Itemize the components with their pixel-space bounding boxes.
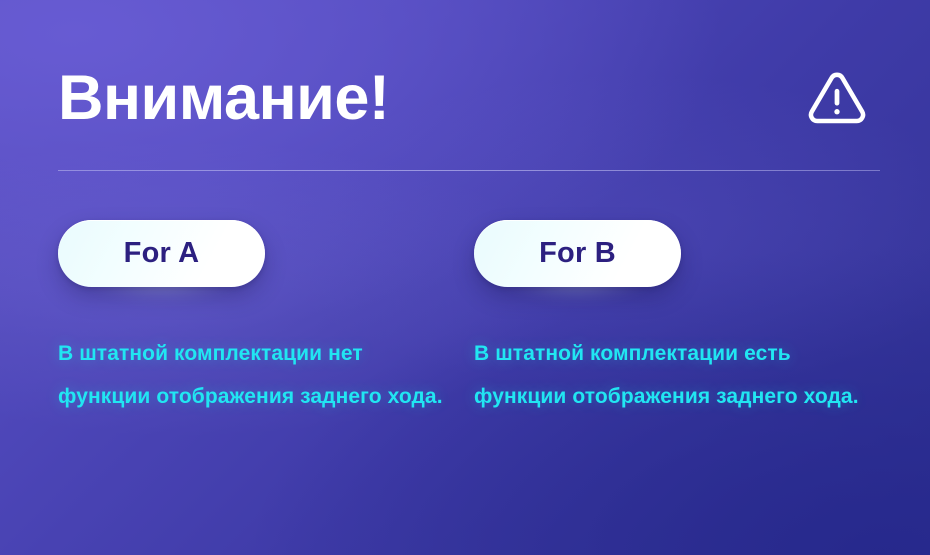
for-b-button-label: For B [539, 239, 616, 268]
for-b-button[interactable]: For B [474, 220, 681, 287]
option-b-description: В штатной комплектации есть функции отоб… [474, 287, 866, 418]
for-a-button[interactable]: For A [58, 220, 265, 287]
slide-header: Внимание! [58, 52, 880, 144]
for-a-button-label: For A [124, 239, 200, 268]
header-divider [58, 170, 880, 171]
option-column-a: For A В штатной комплектации нет функции… [58, 220, 474, 418]
warning-triangle-icon [804, 65, 880, 131]
pill-wrap-b: For B [474, 220, 681, 287]
option-column-b: For B В штатной комплектации есть функци… [474, 220, 890, 418]
option-a-description: В штатной комплектации нет функции отобр… [58, 287, 450, 418]
warning-slide: Внимание! For A В штатной комплектации н… [0, 0, 930, 555]
pill-wrap-a: For A [58, 220, 265, 287]
page-title: Внимание! [58, 67, 389, 130]
options-columns: For A В штатной комплектации нет функции… [58, 220, 890, 418]
